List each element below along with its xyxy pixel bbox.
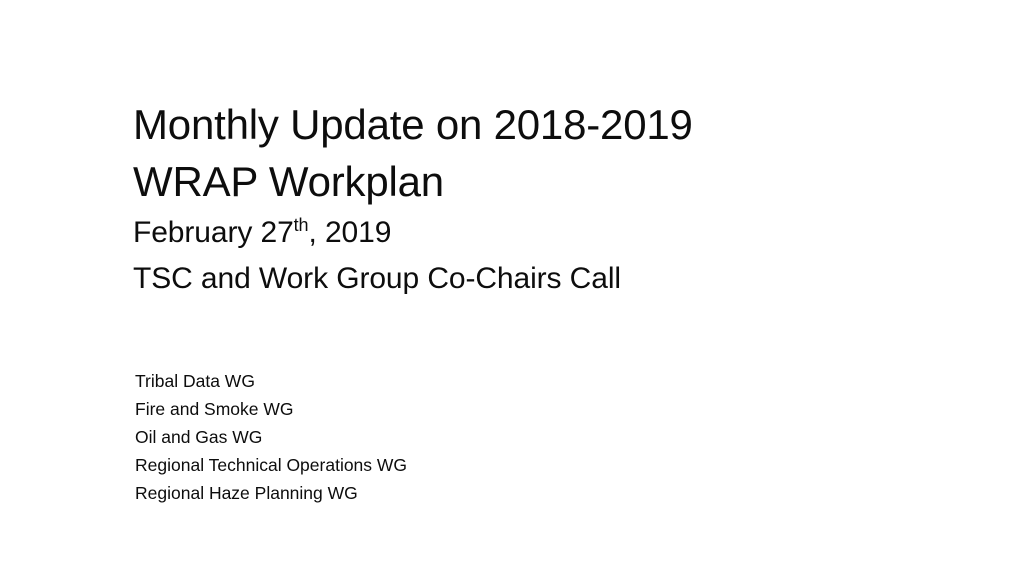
page-title-line-2: WRAP Workplan (133, 153, 923, 210)
subtitle-date-suffix: , 2019 (308, 216, 391, 249)
subtitle-date-ordinal: th (294, 215, 309, 235)
list-item: Oil and Gas WG (135, 423, 835, 451)
list-item: Fire and Smoke WG (135, 395, 835, 423)
list-item: Regional Haze Planning WG (135, 479, 835, 507)
title-block: Monthly Update on 2018-2019 WRAP Workpla… (133, 96, 923, 302)
workgroup-list: Tribal Data WG Fire and Smoke WG Oil and… (135, 367, 835, 507)
subtitle-date: February 27th, 2019 (133, 210, 923, 256)
list-item: Tribal Data WG (135, 367, 835, 395)
slide-canvas: Monthly Update on 2018-2019 WRAP Workpla… (0, 0, 1024, 576)
subtitle-date-prefix: February 27 (133, 216, 294, 249)
list-item: Regional Technical Operations WG (135, 451, 835, 479)
page-title-line-1: Monthly Update on 2018-2019 (133, 96, 923, 153)
subtitle-meeting: TSC and Work Group Co-Chairs Call (133, 256, 923, 302)
